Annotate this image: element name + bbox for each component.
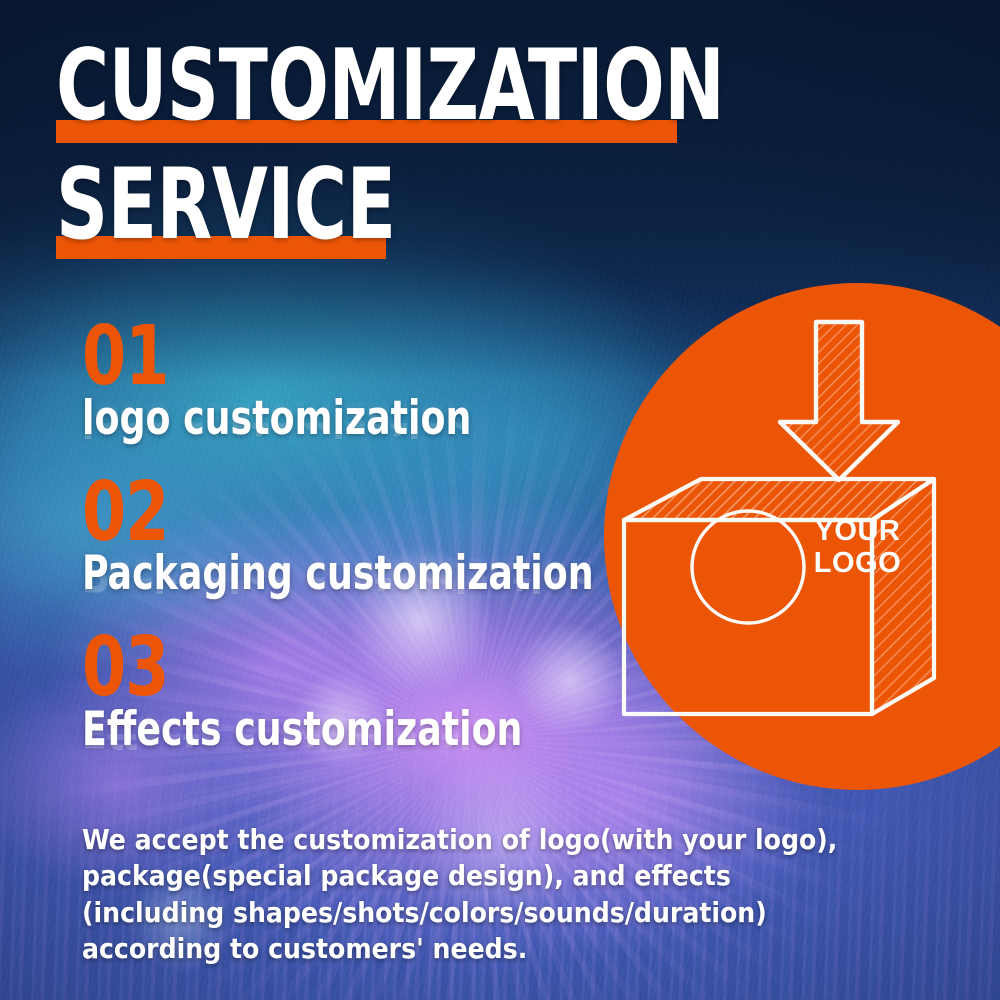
feature-number-02: 02 <box>82 478 598 549</box>
package-illustration <box>604 283 1000 790</box>
package-box-icon <box>624 479 934 714</box>
feature-label-wrap-03: Effects customization Effects customizat… <box>82 706 682 753</box>
feature-label-wrap-01: logo customization logo customization <box>82 395 682 442</box>
body-paragraph: We accept the customization of logo(with… <box>82 822 852 968</box>
feature-list: 01 logo customization logo customization… <box>82 322 682 753</box>
orange-circle-badge: YOUR LOGO <box>604 283 1000 790</box>
feature-item-03: 03 Effects customization Effects customi… <box>82 633 682 753</box>
feature-number-01: 01 <box>82 322 598 393</box>
feature-item-01: 01 logo customization logo customization <box>82 322 682 442</box>
feature-label-02: Packaging customization <box>82 550 598 597</box>
title-line-customization: CUSTOMIZATION <box>56 46 724 126</box>
title-line-service: SERVICE <box>56 165 724 245</box>
down-arrow-icon <box>780 322 898 480</box>
feature-number-03: 03 <box>82 633 598 704</box>
feature-label-03: Effects customization <box>82 706 598 753</box>
feature-item-02: 02 Packaging customization Packaging cus… <box>82 478 682 598</box>
logo-placeholder-circle <box>692 511 804 623</box>
promotional-poster: CUSTOMIZATION SERVICE 01 logo customizat… <box>0 0 1000 1000</box>
poster-title: CUSTOMIZATION SERVICE <box>56 46 871 259</box>
feature-label-01: logo customization <box>82 395 598 442</box>
feature-label-wrap-02: Packaging customization Packaging custom… <box>82 550 682 597</box>
